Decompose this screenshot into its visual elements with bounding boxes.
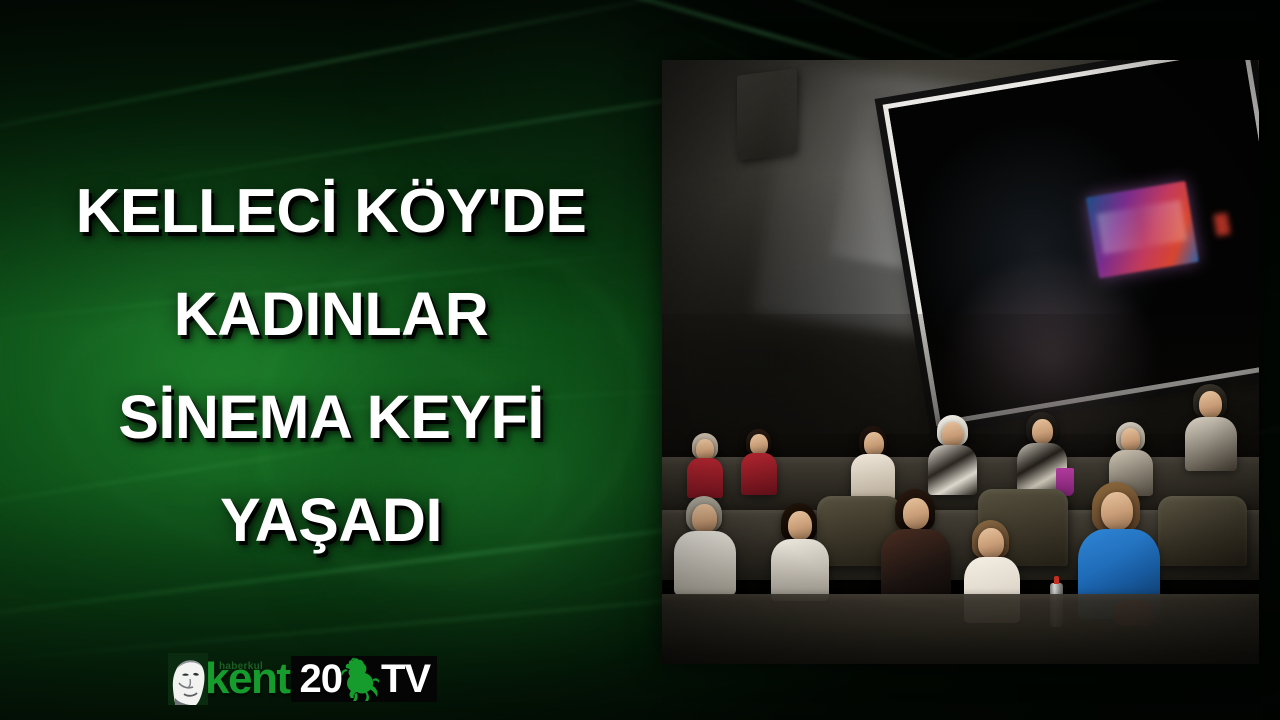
news-banner-card: KELLECİ KÖY'DE KADINLAR SİNEMA KEYFİ YAŞ… <box>0 0 1280 720</box>
photo-canvas <box>662 60 1259 664</box>
logo-badge: 20 TV <box>291 656 437 702</box>
logo-wordmark: haberkul kent <box>205 660 289 699</box>
photo-vignette <box>662 60 1259 664</box>
ataturk-portrait-icon <box>168 653 208 705</box>
headline-line-2: KADINLAR <box>0 263 662 366</box>
logo-number: 20 <box>299 659 342 699</box>
cinema-audience-photo <box>662 60 1259 664</box>
headline-line-1: KELLECİ KÖY'DE <box>0 160 662 263</box>
headline-line-3: SİNEMA KEYFİ <box>0 366 662 469</box>
rooster-icon <box>340 657 380 701</box>
headline-line-4: YAŞADI <box>0 469 662 572</box>
logo-subtext: haberkul <box>219 662 263 672</box>
headline: KELLECİ KÖY'DE KADINLAR SİNEMA KEYFİ YAŞ… <box>0 160 662 572</box>
channel-logo[interactable]: haberkul kent 20 TV <box>168 650 437 708</box>
logo-suffix: TV <box>381 659 430 699</box>
